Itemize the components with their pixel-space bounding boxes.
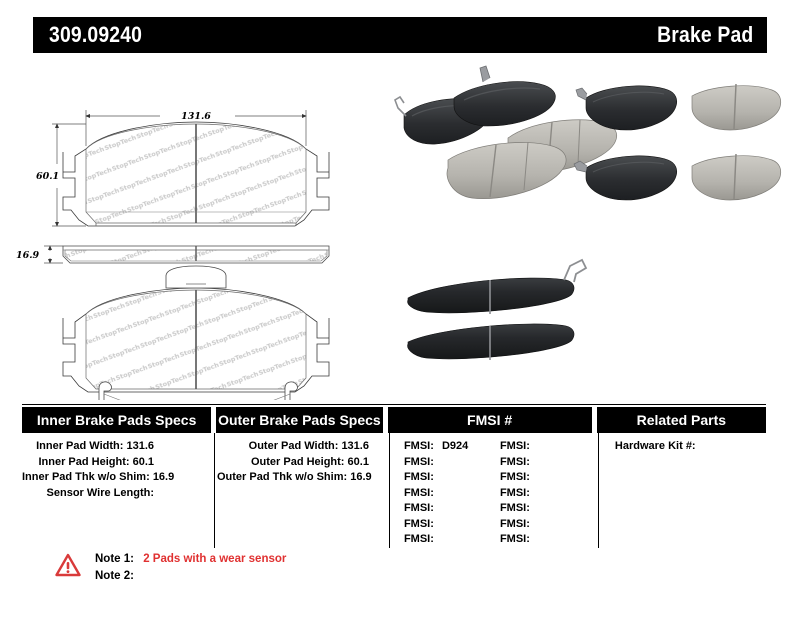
spec-row: Outer Pad Width: 131.6 [217,439,387,455]
fmsi-label: FMSI: [500,471,530,483]
note-value: 2 Pads with a wear sensor [137,553,286,565]
note-label: Note 1: [95,553,134,565]
spec-value: 131.6 [341,440,369,452]
drawing-svg: StopTech [0,60,400,400]
notes-section: Note 1: 2 Pads with a wear sensor Note 2… [55,551,286,585]
related-parts-column: Hardware Kit #: [601,433,766,548]
column-header-outer-specs: Outer Brake Pads Specs [216,407,382,433]
fmsi-label: FMSI: [500,440,530,452]
fmsi-row: FMSI: [404,517,500,533]
column-divider [598,433,599,548]
dimension-thickness-top: 16.9 [16,250,40,261]
fmsi-label: FMSI: [500,518,530,530]
spec-label: Outer Pad Height: [251,456,345,468]
spec-label: Inner Pad Width: [36,440,123,452]
column-header-related-parts: Related Parts [597,407,766,433]
outer-specs-column: Outer Pad Width: 131.6 Outer Pad Height:… [217,433,387,548]
fmsi-value: D924 [437,440,468,452]
fmsi-label: FMSI: [404,471,434,483]
fmsi-subcolumn-2: FMSI: FMSI: FMSI: FMSI: [500,439,596,548]
dimension-width: 131.6 [181,111,211,122]
spec-row: Outer Pad Height: 60.1 [217,455,387,471]
fmsi-label: FMSI: [404,502,434,514]
fmsi-value [530,502,535,514]
fmsi-label: FMSI: [404,456,434,468]
fmsi-value [434,487,439,499]
product-type: Brake Pad [657,22,753,48]
fmsi-row: FMSI: [500,501,596,517]
spec-row: Inner Pad Width: 131.6 [22,439,212,455]
table-top-rule [22,404,766,405]
column-divider [214,433,215,548]
fmsi-row: FMSI: [404,532,500,548]
column-header-fmsi: FMSI # [388,407,592,433]
fmsi-value [530,518,535,530]
spec-row: Inner Pad Height: 60.1 [22,455,212,471]
fmsi-label: FMSI: [404,440,434,452]
spec-label: Outer Pad Width: [249,440,339,452]
part-number: 309.09240 [49,22,142,48]
fmsi-label: FMSI: [404,533,434,545]
fmsi-value [434,502,439,514]
fmsi-row: FMSI: [500,517,596,533]
spec-value: 16.9 [350,471,371,483]
fmsi-label: FMSI: [500,487,530,499]
fmsi-value [434,518,439,530]
warning-icon [55,553,81,577]
spec-label: Inner Pad Height: [38,456,129,468]
related-part-row: Hardware Kit #: [601,439,766,455]
related-part-label: Hardware Kit #: [615,440,696,452]
fmsi-label: FMSI: [500,456,530,468]
fmsi-value [530,533,535,545]
fmsi-value [434,456,439,468]
fmsi-value [530,487,535,499]
spec-label: Sensor Wire Length: [47,487,154,499]
note-line: Note 1: 2 Pads with a wear sensor [95,551,286,568]
table-body: Inner Pad Width: 131.6 Inner Pad Height:… [22,433,766,548]
fmsi-row: FMSI: [404,501,500,517]
fmsi-label: FMSI: [500,502,530,514]
fmsi-value [434,533,439,545]
fmsi-row: FMSI: D924 [404,439,500,455]
fmsi-label: FMSI: [404,518,434,530]
fmsi-row: FMSI: [500,470,596,486]
fmsi-value [530,456,535,468]
title-bar: 309.09240 Brake Pad [33,17,767,53]
fmsi-value [530,440,535,452]
fmsi-row: FMSI: [404,486,500,502]
fmsi-row: FMSI: [404,455,500,471]
note-value [134,570,140,582]
note-label: Note 2: [95,570,134,582]
spec-label: Inner Pad Thk w/o Shim: [22,471,150,483]
spec-value: 131.6 [126,440,154,452]
fmsi-value [434,471,439,483]
fmsi-column: FMSI: D924 FMSI: FMSI: FMSI: [392,433,596,548]
note-line: Note 2: [95,568,286,585]
photos-svg [390,60,800,400]
specs-table: Inner Brake Pads Specs Outer Brake Pads … [22,404,766,548]
fmsi-subcolumn-1: FMSI: D924 FMSI: FMSI: FMSI: [404,439,500,548]
fmsi-row: FMSI: [500,455,596,471]
fmsi-value [530,471,535,483]
dimension-height: 60.1 [36,171,59,182]
spec-value: 60.1 [133,456,154,468]
fmsi-row: FMSI: [500,439,596,455]
spec-label: Outer Pad Thk w/o Shim: [217,471,347,483]
spec-value: 60.1 [348,456,369,468]
spec-row: Outer Pad Thk w/o Shim: 16.9 [217,470,387,486]
photo-angled-group [395,66,617,199]
technical-drawings: StopTech [0,60,400,400]
fmsi-row: FMSI: [500,532,596,548]
spec-row: Inner Pad Thk w/o Shim: 16.9 [22,470,212,486]
product-photos [390,60,800,400]
spec-value: 16.9 [153,471,174,483]
fmsi-label: FMSI: [500,533,530,545]
photo-edge-pair [408,260,586,360]
fmsi-row: FMSI: [500,486,596,502]
column-header-inner-specs: Inner Brake Pads Specs [22,407,211,433]
column-divider [389,433,390,548]
inner-specs-column: Inner Pad Width: 131.6 Inner Pad Height:… [22,433,212,548]
fmsi-label: FMSI: [404,487,434,499]
table-header-row: Inner Brake Pads Specs Outer Brake Pads … [22,407,766,433]
fmsi-row: FMSI: [404,470,500,486]
spec-row: Sensor Wire Length: [22,486,212,502]
